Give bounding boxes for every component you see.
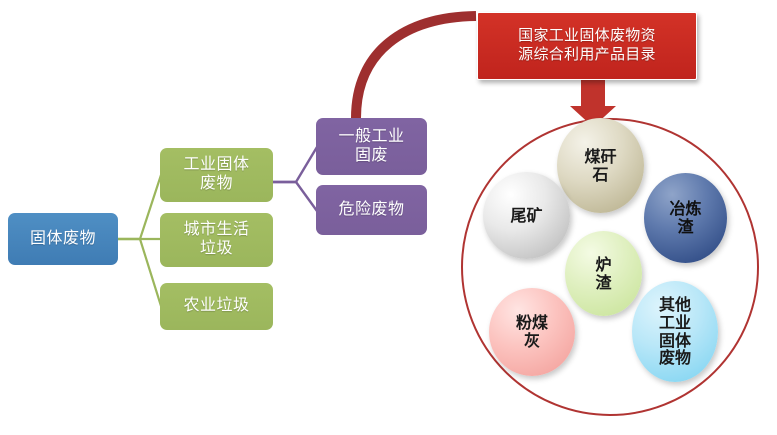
sphere-other-industrial-waste-label: 其他 工业 固体 废物 xyxy=(659,296,691,368)
sphere-fly-ash[interactable]: 粉煤 灰 xyxy=(489,288,575,376)
sphere-fly-ash-label: 粉煤 灰 xyxy=(516,314,548,350)
sphere-tailings-label: 尾矿 xyxy=(510,207,542,225)
node-agricultural-waste-label: 农业垃圾 xyxy=(183,297,249,316)
node-industrial-solid-waste-label: 工业固体 废物 xyxy=(183,156,249,194)
catalog-banner-label: 国家工业固体废物资 源综合利用产品目录 xyxy=(518,27,656,65)
connector-root-to-agricultural xyxy=(118,239,161,306)
sphere-tailings[interactable]: 尾矿 xyxy=(483,172,570,259)
node-solid-waste-label: 固体废物 xyxy=(30,230,96,249)
sphere-coal-gangue-label: 煤矸 石 xyxy=(584,148,616,184)
sphere-furnace-slag[interactable]: 炉 渣 xyxy=(565,231,642,316)
sphere-furnace-slag-label: 炉 渣 xyxy=(595,256,611,292)
node-municipal-waste[interactable]: 城市生活 垃圾 xyxy=(160,213,273,267)
sphere-coal-gangue[interactable]: 煤矸 石 xyxy=(557,118,644,213)
node-industrial-solid-waste[interactable]: 工业固体 废物 xyxy=(160,148,273,202)
node-general-industrial-waste-label: 一般工业 固废 xyxy=(338,128,404,166)
arc-arrow-to-banner xyxy=(356,16,476,118)
node-solid-waste[interactable]: 固体废物 xyxy=(8,213,118,265)
sphere-smelting-slag-label: 冶炼 渣 xyxy=(669,200,701,236)
node-agricultural-waste[interactable]: 农业垃圾 xyxy=(160,283,273,330)
connector-industrial-to-hazardous xyxy=(273,182,317,211)
node-hazardous-waste[interactable]: 危险废物 xyxy=(316,185,427,235)
sphere-other-industrial-waste[interactable]: 其他 工业 固体 废物 xyxy=(632,281,718,382)
connector-industrial-to-general xyxy=(273,147,317,182)
diagram-canvas: 固体废物 工业固体 废物 城市生活 垃圾 农业垃圾 一般工业 固废 危险废物 国… xyxy=(0,0,777,435)
node-hazardous-waste-label: 危险废物 xyxy=(338,201,404,220)
node-municipal-waste-label: 城市生活 垃圾 xyxy=(183,221,249,259)
catalog-banner[interactable]: 国家工业固体废物资 源综合利用产品目录 xyxy=(477,12,697,80)
node-general-industrial-waste[interactable]: 一般工业 固废 xyxy=(316,118,427,175)
sphere-smelting-slag[interactable]: 冶炼 渣 xyxy=(644,173,727,263)
connector-root-to-industrial xyxy=(118,175,161,239)
